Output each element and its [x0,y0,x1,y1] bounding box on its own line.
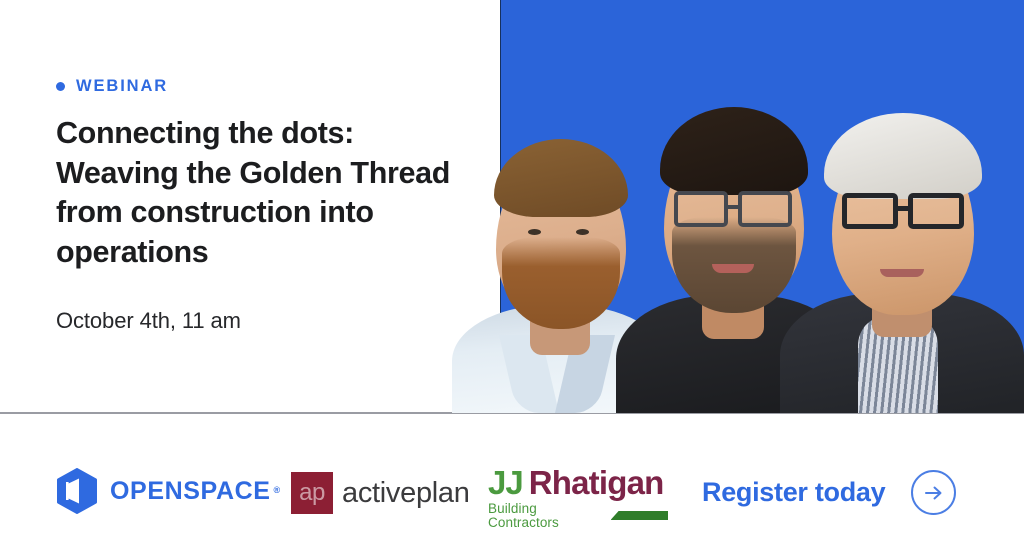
jj-rhatigan-name: Rhatigan [529,466,664,499]
hero-text-column: WEBINAR Connecting the dots: Weaving the… [56,0,486,413]
jj-rhatigan-prefix: JJ [488,466,523,499]
webinar-promo-banner: WEBINAR Connecting the dots: Weaving the… [0,0,1024,536]
hero-section: WEBINAR Connecting the dots: Weaving the… [0,0,1024,413]
speaker-right [780,41,1024,413]
openspace-wordmark: OPENSPACE® [110,479,281,504]
speaker-right-glasses-bridge [896,206,912,211]
jj-rhatigan-bar-icon [611,511,668,520]
register-cta[interactable]: Register today [702,470,956,515]
speaker-center-glasses-bridge [726,205,742,209]
activeplan-initials: ap [299,481,325,505]
eyebrow-label: WEBINAR [76,78,168,95]
speaker-left-eye-left [528,229,541,235]
jj-rhatigan-name-row: JJ Rhatigan [488,466,668,499]
speaker-left-hair [494,139,628,217]
logo-openspace[interactable]: OPENSPACE® [56,468,281,514]
activeplan-mark: ap [291,472,333,514]
speaker-center-mouth [712,264,754,273]
speaker-left-eye-right [576,229,589,235]
logo-activeplan[interactable]: ap activeplan [291,472,470,514]
page-title: Connecting the dots: Weaving the Golden … [56,114,456,273]
openspace-wordmark-text: OPENSPACE [110,477,271,505]
openspace-hexagon-icon [56,468,98,514]
event-datetime: October 4th, 11 am [56,308,241,334]
arrow-right-circle-icon[interactable] [911,470,956,515]
activeplan-wordmark: activeplan [342,479,470,508]
speaker-right-mouth [880,269,924,277]
jj-rhatigan-tagline: Building Contractors [488,502,603,529]
speaker-right-glasses-left-lens [842,193,898,229]
speaker-right-glasses-right-lens [908,193,964,229]
bullet-dot-icon [56,82,65,91]
footer-bar: OPENSPACE® ap activeplan JJ Rhatigan Bui… [0,414,1024,536]
logo-jj-rhatigan[interactable]: JJ Rhatigan Building Contractors [488,466,668,529]
eyebrow-badge: WEBINAR [56,78,168,95]
registered-trademark-icon: ® [274,485,281,495]
speaker-center-glasses-left-lens [674,191,728,227]
register-cta-label: Register today [702,479,885,506]
arrow-right-icon [921,480,947,506]
jj-rhatigan-tagline-row: Building Contractors [488,502,668,529]
speaker-right-hair [824,113,982,199]
